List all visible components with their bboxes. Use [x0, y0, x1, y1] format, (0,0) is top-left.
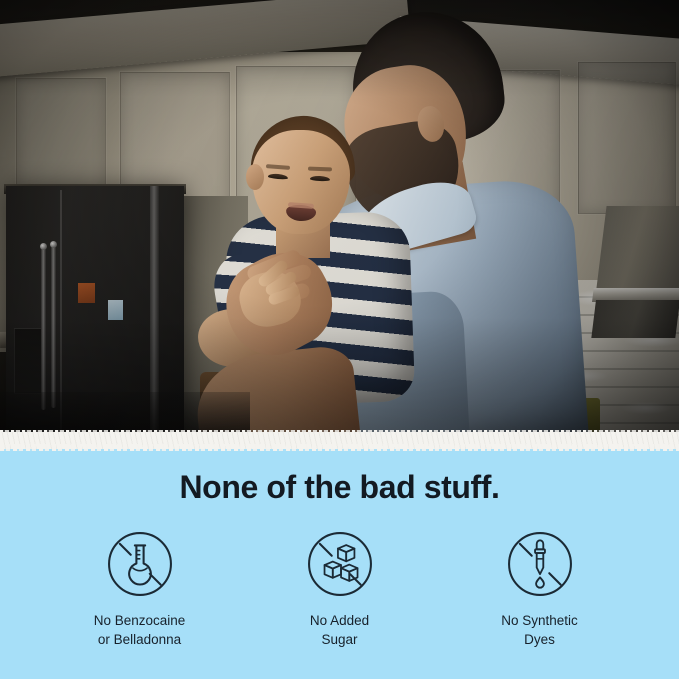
- benefit-caption: No Synthetic Dyes: [501, 611, 578, 649]
- cabinet-door-panel: [578, 62, 676, 214]
- benefit-caption: No Added Sugar: [310, 611, 369, 649]
- panel-headline: None of the bad stuff.: [0, 467, 679, 507]
- no-sugar-cubes-icon: [307, 531, 373, 597]
- benefit-item-no-synthetic-dyes: No Synthetic Dyes: [440, 531, 640, 649]
- refrigerator-handle: [51, 246, 56, 408]
- no-flask-icon: [107, 531, 173, 597]
- baby-eyebrow: [308, 167, 332, 172]
- water-dispenser: [14, 328, 44, 394]
- product-benefits-screenshot: None of the bad stuff. No Benzocaine or …: [0, 0, 679, 679]
- range-hood: [596, 206, 679, 292]
- benefits-list: No Benzocaine or Belladonna: [0, 531, 679, 649]
- handle-cap: [40, 243, 47, 250]
- fridge-magnet-orange: [78, 283, 95, 303]
- no-dropper-icon: [507, 531, 573, 597]
- baby-ear: [246, 164, 264, 190]
- benefit-item-no-added-sugar: No Added Sugar: [240, 531, 440, 649]
- range-hood-body: [591, 300, 679, 338]
- fridge-note-blue: [108, 300, 123, 320]
- torn-edge-bottom: [0, 444, 679, 451]
- benefit-caption: No Benzocaine or Belladonna: [94, 611, 186, 649]
- benefit-item-no-benzocaine: No Benzocaine or Belladonna: [40, 531, 240, 649]
- handle-cap: [50, 241, 57, 248]
- benefits-panel: None of the bad stuff. No Benzocaine or …: [0, 447, 679, 679]
- refrigerator-handle: [41, 248, 46, 410]
- torn-paper-edge: [0, 432, 679, 449]
- lifestyle-photo: [0, 0, 679, 441]
